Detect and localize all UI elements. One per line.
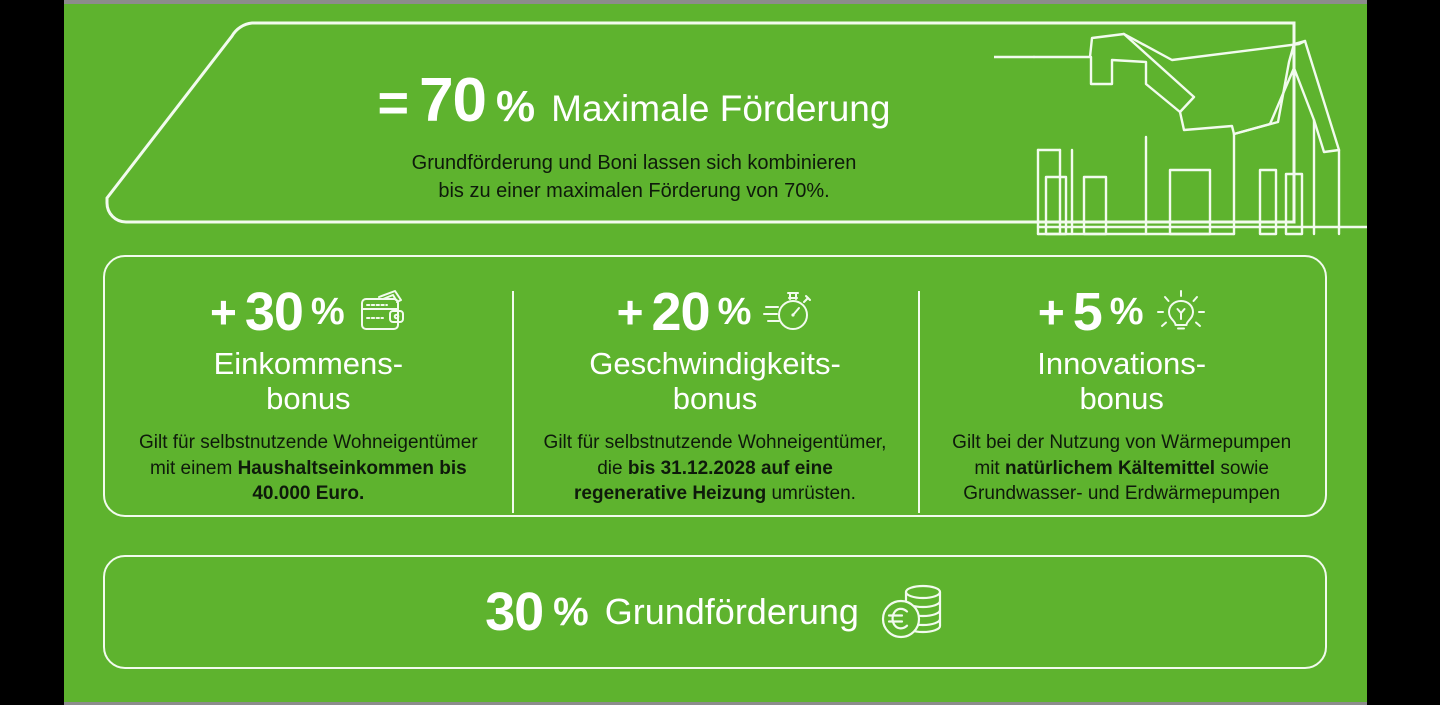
base-percent-symbol: % [553, 592, 589, 632]
bonus-name: Einkommens- bonus [214, 347, 404, 416]
bonus-percent-symbol: % [718, 293, 752, 331]
infographic-stage: = 70 % Maximale Förderung Grundförderung… [0, 0, 1440, 705]
bonus-percent-row: + 30 % [210, 283, 407, 341]
green-panel: = 70 % Maximale Förderung Grundförderung… [64, 4, 1367, 702]
hero-percent-value: 70 [419, 70, 486, 132]
lightbulb-icon [1156, 289, 1206, 335]
base-funding-title: Grundförderung [605, 594, 859, 630]
hero-subtitle-line-1: Grundförderung und Boni lassen sich komb… [254, 150, 1014, 178]
bonus-name: Innovations- bonus [1037, 347, 1206, 416]
bonus-column-innovationsbonus: + 5 % [918, 257, 1325, 515]
bonus-percent-symbol: % [311, 293, 345, 331]
bonus-percent-value: 20 [652, 285, 710, 339]
bonus-name: Geschwindigkeits- bonus [589, 347, 841, 416]
bonus-percent-row: + 5 % [1038, 283, 1206, 341]
base-percent-value: 30 [485, 585, 543, 639]
bonus-name-line-2: bonus [1037, 382, 1206, 417]
euro-coins-icon [879, 581, 945, 643]
bonus-column-geschwindigkeitsbonus: + 20 % [512, 257, 919, 515]
bonus-percent-row: + 20 % [617, 283, 814, 341]
equals-sign: = [378, 76, 410, 130]
bonus-percent-value: 30 [245, 285, 303, 339]
bonus-description: Gilt für selbstnutzende Wohneigentümer m… [136, 430, 481, 505]
bonus-name-line-2: bonus [214, 382, 404, 417]
plus-sign: + [1038, 289, 1065, 335]
wallet-icon [357, 289, 407, 335]
hero-text-block: = 70 % Maximale Förderung Grundförderung… [254, 70, 1014, 205]
hero-subtitle: Grundförderung und Boni lassen sich komb… [254, 150, 1014, 205]
plus-sign: + [210, 289, 237, 335]
bonus-name-line-1: Einkommens- [214, 347, 404, 382]
bonus-card: + 30 % [103, 255, 1327, 517]
base-funding-card: 30 % Grundförderung [103, 555, 1327, 669]
bonus-description: Gilt für selbstnutzende Wohneigentümer, … [543, 430, 888, 505]
plus-sign: + [617, 289, 644, 335]
bonus-name-line-2: bonus [589, 382, 841, 417]
stopwatch-icon [763, 289, 813, 335]
bonus-percent-symbol: % [1110, 293, 1144, 331]
base-funding-row: 30 % Grundförderung [485, 581, 945, 643]
bonus-description: Gilt bei der Nutzung von Wärmepumpen mit… [949, 430, 1294, 505]
hero-subtitle-line-2: bis zu einer maximalen Förderung von 70%… [254, 178, 1014, 206]
bonus-column-einkommensbonus: + 30 % [105, 257, 512, 515]
bonus-percent-value: 5 [1073, 285, 1102, 339]
bonus-columns: + 30 % [105, 257, 1325, 515]
hero-title: Maximale Förderung [551, 90, 890, 127]
bonus-name-line-1: Innovations- [1037, 347, 1206, 382]
house-line-art-icon [994, 22, 1367, 247]
hero-percent-symbol: % [496, 85, 535, 129]
bonus-name-line-1: Geschwindigkeits- [589, 347, 841, 382]
hero-headline: = 70 % Maximale Förderung [254, 70, 1014, 132]
